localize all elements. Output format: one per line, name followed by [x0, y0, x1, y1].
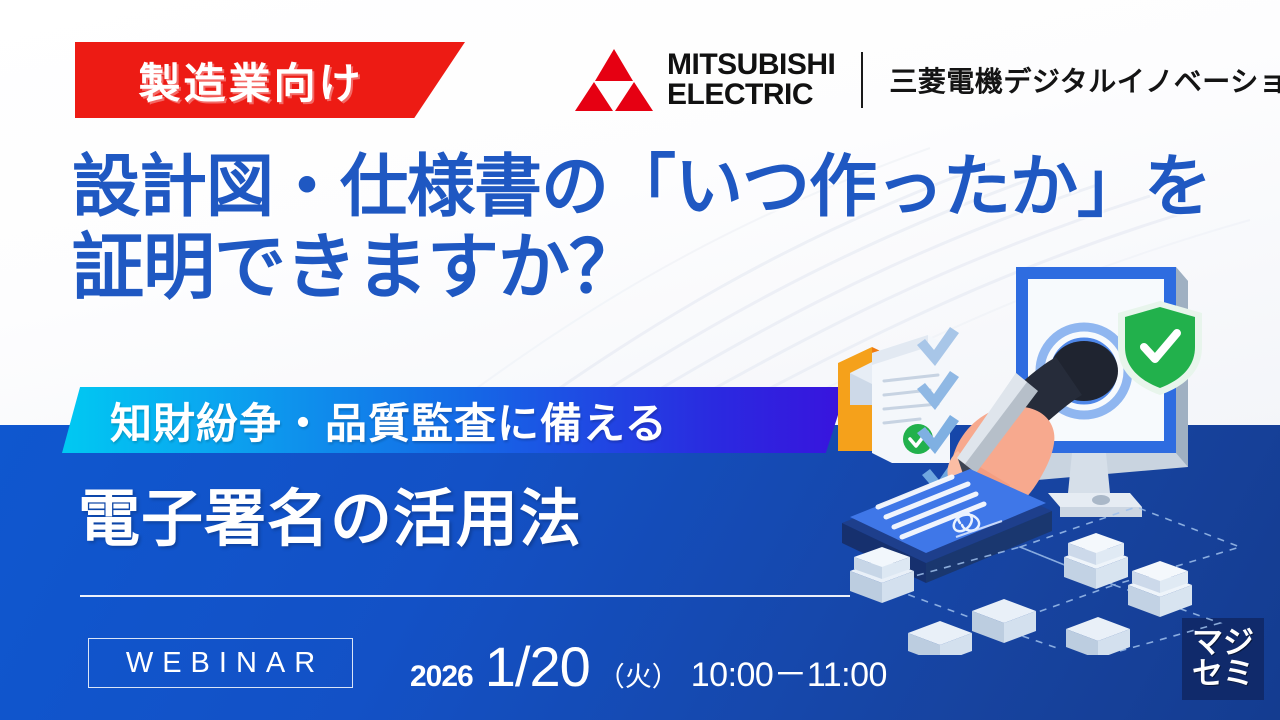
cube — [1066, 617, 1130, 655]
brand-lockup: MITSUBISHI ELECTRIC 三菱電機デジタルイノベーション — [575, 44, 1280, 116]
audience-badge-label: 製造業向け — [138, 50, 401, 111]
webinar-banner: 製造業向け MITSUBISHI ELECTRIC 三菱電機デジタルイノベーショ… — [0, 0, 1280, 720]
cube — [972, 599, 1036, 643]
webinar-badge: WEBINAR — [88, 638, 353, 688]
webinar-badge-label: WEBINAR — [117, 647, 324, 680]
cube — [1128, 561, 1192, 617]
audience-badge: 製造業向け — [75, 42, 465, 118]
headline-line-1: 設計図・仕様書の「いつ作ったか」を — [72, 152, 1211, 223]
cube — [850, 547, 914, 603]
brand-wordmark-line1: MITSUBISHI — [667, 50, 835, 80]
electronic-signature-illustration — [820, 255, 1280, 655]
subhead-ribbon: 知財紛争・品質監査に備える — [62, 387, 847, 453]
brand-divider — [861, 52, 863, 108]
cube — [908, 621, 972, 655]
mitsubishi-three-diamonds-icon — [575, 49, 653, 111]
brand-wordmark-line2: ELECTRIC — [667, 80, 835, 110]
brand-wordmark: MITSUBISHI ELECTRIC — [667, 50, 835, 110]
event-datetime: 2026 1/20 （火） 10:00－11:00 — [410, 634, 887, 699]
subhead-ribbon-label: 知財紛争・品質監査に備える — [62, 390, 668, 451]
event-day-of-week: （火） — [598, 655, 679, 694]
majisemi-logo-line2: セミ — [1192, 659, 1254, 690]
event-year: 2026 — [410, 660, 473, 694]
brand-unit-name: 三菱電機デジタルイノベーション — [889, 60, 1280, 100]
event-month-day: 1/20 — [485, 634, 590, 699]
footer-divider — [80, 595, 850, 597]
subtitle: 電子署名の活用法 — [78, 468, 582, 558]
cube — [1064, 533, 1128, 589]
